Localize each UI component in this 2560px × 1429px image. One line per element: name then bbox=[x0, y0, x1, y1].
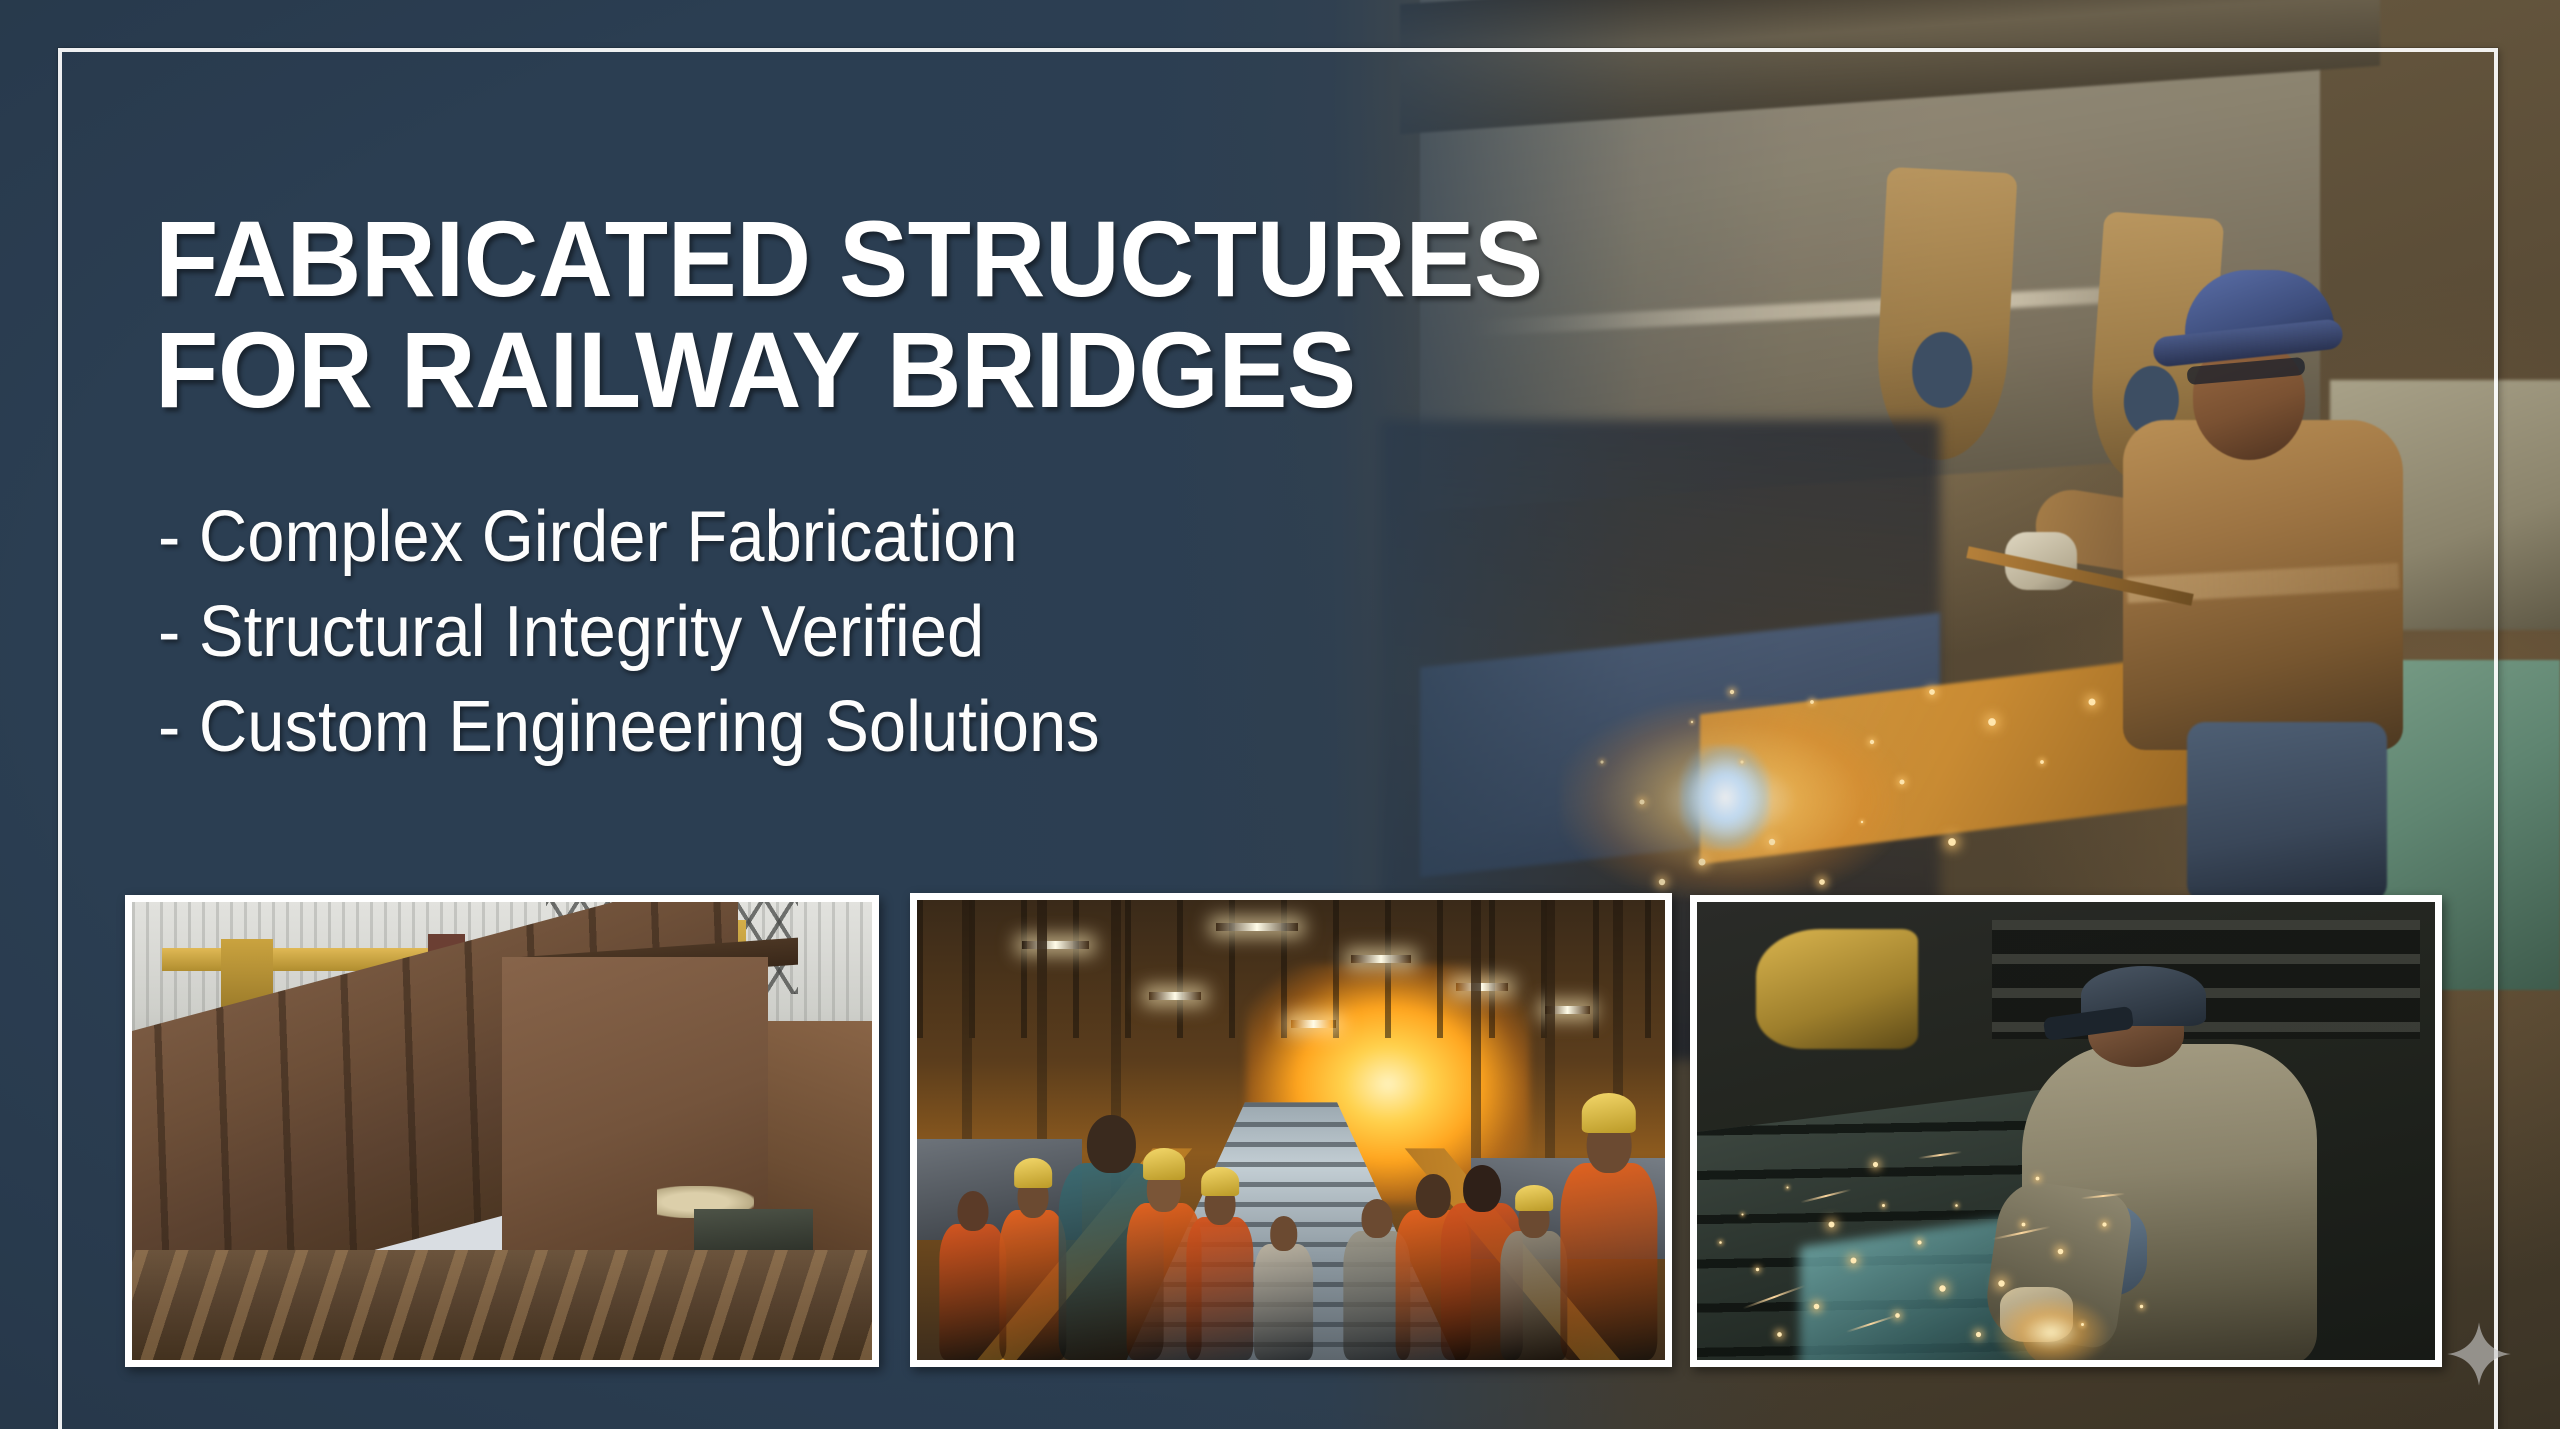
ceiling-lamp bbox=[1022, 941, 1089, 949]
yellow-machine bbox=[1756, 929, 1918, 1048]
thumbnail-image-1 bbox=[132, 902, 872, 1360]
worker-torso bbox=[1186, 1217, 1253, 1360]
worker-hard-hat bbox=[1143, 1148, 1185, 1180]
spark-particle bbox=[1882, 1204, 1885, 1207]
page-title: FABRICATED STRUCTURES FOR RAILWAY BRIDGE… bbox=[155, 204, 1845, 424]
ceiling-lamp bbox=[1149, 992, 1201, 1000]
bullet-item-2: - Structural Integrity Verified bbox=[158, 585, 1100, 680]
thumbnail-welder-sparks[interactable] bbox=[1690, 895, 2442, 1367]
spark-particle bbox=[2102, 1222, 2106, 1226]
worker-hard-hat bbox=[1014, 1158, 1052, 1188]
spark-particle bbox=[1976, 1331, 1981, 1336]
worker-head bbox=[1463, 1165, 1501, 1212]
thumbnail-assembly-line-workers[interactable] bbox=[910, 893, 1672, 1367]
factory-worker bbox=[1254, 1204, 1314, 1360]
spark-particle bbox=[2021, 1222, 2025, 1226]
ceiling-lamp bbox=[1351, 955, 1411, 963]
worker-hard-hat bbox=[1515, 1185, 1553, 1211]
factory-worker bbox=[1560, 1093, 1657, 1360]
worker-head bbox=[1362, 1199, 1393, 1237]
headline-line-2: FOR RAILWAY BRIDGES bbox=[155, 315, 1845, 425]
spark-particle bbox=[1786, 1186, 1788, 1188]
worker-hard-hat bbox=[1582, 1093, 1636, 1133]
worker-head bbox=[958, 1191, 989, 1231]
ceiling-lamp bbox=[1291, 1020, 1336, 1028]
thumbnail-image-2 bbox=[917, 900, 1665, 1360]
spark-particle bbox=[2057, 1249, 2063, 1255]
worker-torso bbox=[999, 1210, 1066, 1360]
ceiling-lamp bbox=[1216, 923, 1298, 931]
headline-line-1: FABRICATED STRUCTURES bbox=[155, 198, 1543, 319]
thumbnail-image-3 bbox=[1697, 902, 2435, 1360]
spark-particle bbox=[1828, 1221, 1834, 1227]
factory-worker bbox=[999, 1158, 1066, 1360]
worker-torso bbox=[1560, 1163, 1657, 1360]
spark-particle bbox=[1777, 1332, 1782, 1337]
bullet-item-1: - Complex Girder Fabrication bbox=[158, 490, 1100, 585]
ceiling-lamp bbox=[1456, 983, 1508, 991]
spark-particle bbox=[1939, 1285, 1945, 1291]
factory-worker bbox=[1500, 1185, 1567, 1360]
thumbnail-steel-girder-workshop[interactable] bbox=[125, 895, 879, 1367]
sparkle-icon bbox=[2446, 1321, 2512, 1387]
workshop-floor bbox=[132, 1250, 872, 1360]
feature-bullet-list: - Complex Girder Fabrication - Structura… bbox=[158, 490, 1100, 775]
worker-head bbox=[1270, 1216, 1298, 1250]
worker-torso bbox=[939, 1224, 1006, 1360]
weld-arc-glow bbox=[1992, 1296, 2110, 1360]
bullet-item-3: - Custom Engineering Solutions bbox=[158, 680, 1100, 775]
factory-worker bbox=[1186, 1167, 1253, 1360]
worker-torso bbox=[1254, 1244, 1314, 1360]
toolbox bbox=[694, 1209, 812, 1250]
spark-particle bbox=[2140, 1305, 2143, 1308]
factory-worker bbox=[939, 1176, 1006, 1360]
worker-torso bbox=[1500, 1231, 1567, 1360]
spark-particle bbox=[1998, 1280, 2004, 1286]
poster-canvas: FABRICATED STRUCTURES FOR RAILWAY BRIDGE… bbox=[0, 0, 2560, 1429]
worker-hard-hat bbox=[1201, 1167, 1239, 1196]
